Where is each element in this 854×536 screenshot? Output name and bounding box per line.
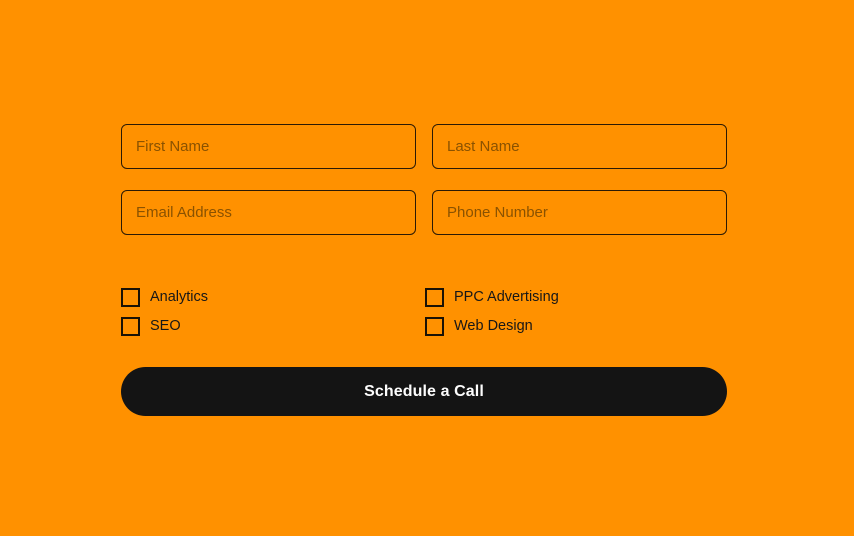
- checkbox-seo[interactable]: [121, 317, 140, 336]
- last-name-input[interactable]: [432, 124, 727, 169]
- service-checkbox-grid: Analytics PPC Advertising SEO Web Design: [121, 283, 727, 341]
- checkbox-label-web-design: Web Design: [454, 319, 533, 334]
- contact-form: Analytics PPC Advertising SEO Web Design…: [121, 124, 727, 416]
- checkbox-analytics[interactable]: [121, 288, 140, 307]
- first-name-input[interactable]: [121, 124, 416, 169]
- page-background: { "theme": { "background_color": "#ff910…: [0, 0, 854, 536]
- checkbox-row-analytics[interactable]: Analytics: [121, 283, 425, 312]
- checkbox-row-ppc-advertising[interactable]: PPC Advertising: [425, 283, 727, 312]
- checkbox-row-web-design[interactable]: Web Design: [425, 312, 727, 341]
- email-address-input[interactable]: [121, 190, 416, 235]
- checkbox-label-analytics: Analytics: [150, 290, 208, 305]
- checkbox-label-seo: SEO: [150, 319, 181, 334]
- input-field-grid: [121, 124, 727, 235]
- checkbox-web-design[interactable]: [425, 317, 444, 336]
- schedule-a-call-button[interactable]: Schedule a Call: [121, 367, 727, 416]
- phone-number-input[interactable]: [432, 190, 727, 235]
- checkbox-ppc-advertising[interactable]: [425, 288, 444, 307]
- checkbox-row-seo[interactable]: SEO: [121, 312, 425, 341]
- checkbox-label-ppc-advertising: PPC Advertising: [454, 290, 559, 305]
